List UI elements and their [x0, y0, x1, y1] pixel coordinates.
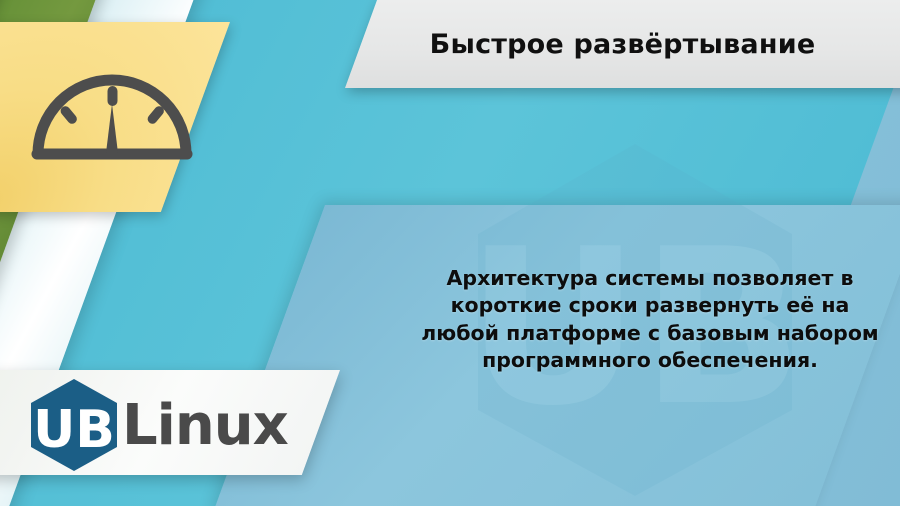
- body-line: любой платформе с базовым набором: [415, 320, 885, 347]
- body-text: Архитектура системы позволяет в короткие…: [415, 265, 885, 375]
- logo-wordmark: Linux: [122, 398, 288, 454]
- ub-mark-text: UB: [33, 400, 115, 460]
- body-line: короткие сроки развернуть её на: [415, 292, 885, 319]
- page-title: Быстрое развёртывание: [345, 0, 900, 88]
- speedometer-gauge-icon: [28, 58, 196, 162]
- ublinux-logo: UB Linux: [28, 378, 288, 472]
- ub-hexagon-icon: UB: [28, 378, 120, 472]
- slide-root: UB Быстрое развёртывание UB: [0, 0, 900, 506]
- body-line: Архитектура системы позволяет в: [415, 265, 885, 292]
- body-line: программного обеспечения.: [415, 347, 885, 374]
